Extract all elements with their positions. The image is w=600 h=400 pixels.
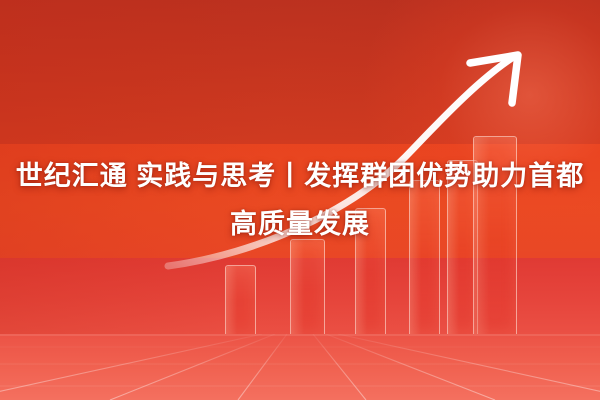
page-title: 世纪汇通 实践与思考丨发挥群团优势助力首都高质量发展	[0, 152, 600, 248]
bar-1	[225, 265, 256, 334]
bar-sheen	[226, 266, 237, 334]
bar-2	[290, 239, 325, 334]
poster-canvas: 世纪汇通 实践与思考丨发挥群团优势助力首都高质量发展	[0, 0, 600, 400]
bar-sheen	[291, 240, 304, 334]
